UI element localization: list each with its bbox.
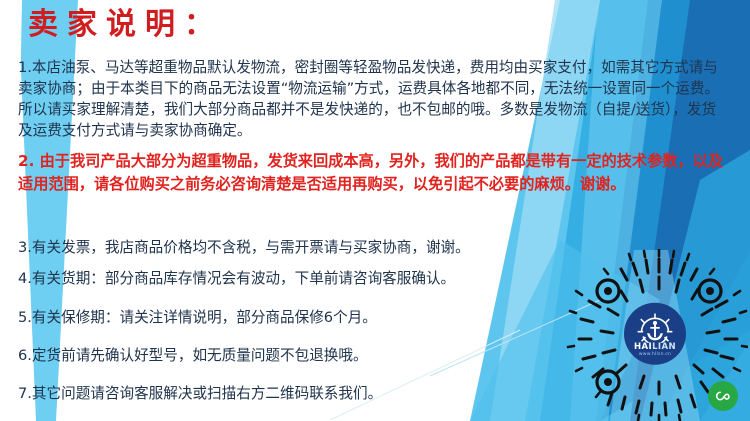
- instruction-item-1: 1.本店油泵、马达等超重物品默认发物流，密封圈等轻盈物品发快递，费用均由买家支付…: [18, 57, 730, 141]
- wechat-mini-program-qr-code[interactable]: HAILIAN www.hllsn.cn: [562, 249, 748, 421]
- logo-brand-text: HAILIAN: [634, 342, 676, 351]
- seller-instructions-banner: 卖家说明： 1.本店油泵、马达等超重物品默认发物流，密封圈等轻盈物品发快递，费用…: [0, 0, 750, 421]
- logo-brand-first: HAI: [634, 341, 652, 351]
- hailian-logo: HAILIAN www.hllsn.cn: [624, 303, 686, 365]
- instruction-item-2: 2. 由于我司产品大部分为超重物品，发货来回成本高，另外，我们的产品都是带有一定…: [18, 150, 730, 196]
- logo-url-text: www.hllsn.cn: [639, 351, 671, 357]
- logo-brand-second: LIAN: [652, 341, 676, 351]
- wechat-mini-program-badge[interactable]: [708, 381, 738, 411]
- ship-wheel-anchor-icon: [636, 312, 674, 342]
- wechat-mini-program-icon: [713, 386, 733, 406]
- page-title: 卖家说明：: [28, 4, 223, 46]
